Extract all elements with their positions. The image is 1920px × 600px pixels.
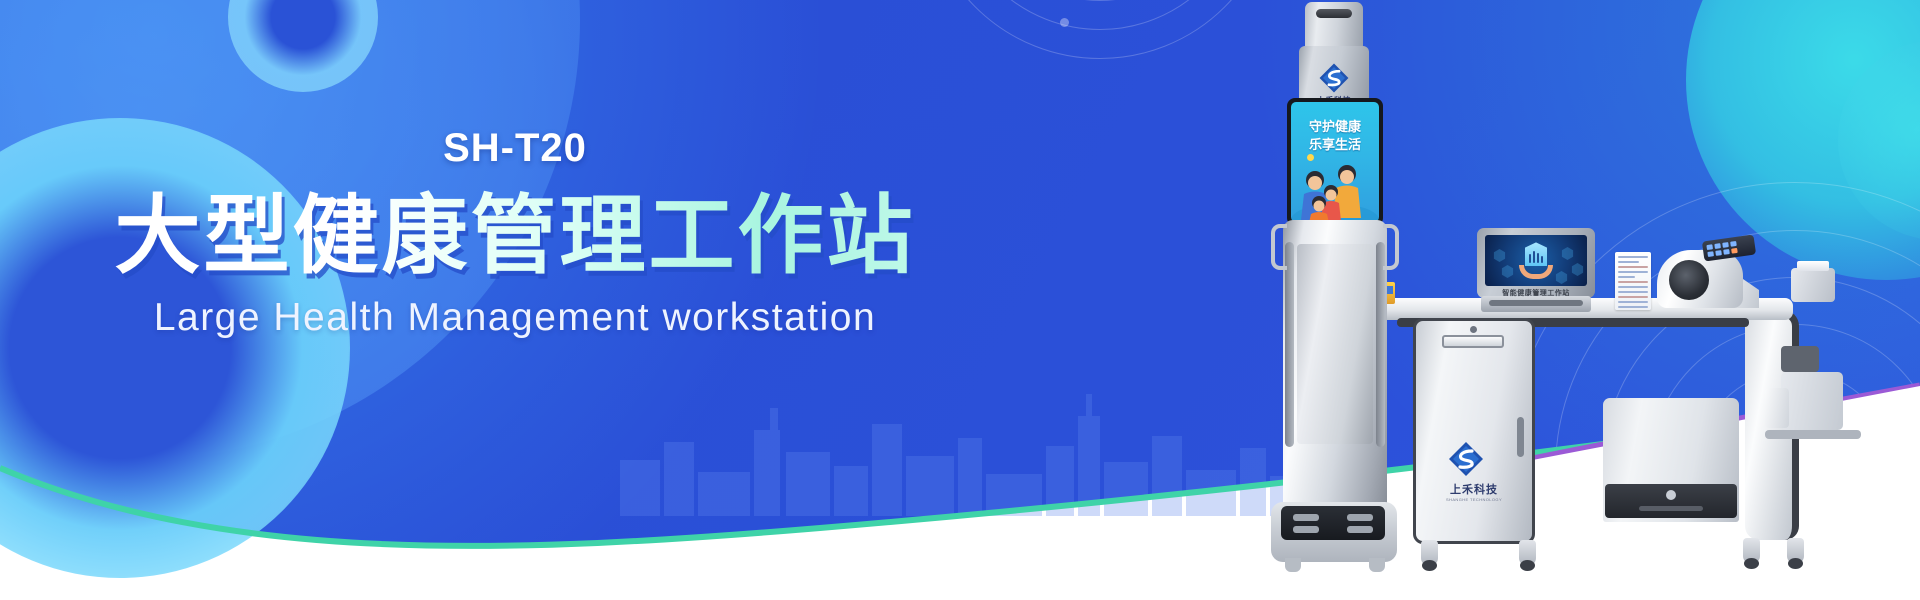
cabinet-brand-logo: 上禾科技 SHANGHE TECHNOLOGY	[1446, 439, 1502, 502]
foot-pad-right-rear	[1347, 526, 1373, 533]
bp-arm-cuff-opening	[1669, 260, 1709, 300]
laptop-keyboard	[1481, 296, 1591, 312]
kiosk-weight-scale[interactable]	[1281, 506, 1385, 540]
kiosk-display[interactable]: 守护健康 乐享生活	[1287, 98, 1383, 226]
blood-pressure-monitor	[1653, 238, 1757, 310]
tray-bar	[1765, 430, 1861, 439]
kiosk-slogan-line2: 乐享生活	[1291, 134, 1379, 153]
laptop-screen	[1485, 235, 1587, 286]
kiosk-handle-right[interactable]	[1383, 224, 1399, 270]
tray-block	[1781, 346, 1819, 372]
kiosk-column	[1283, 220, 1387, 512]
cabinet-card-slot	[1442, 335, 1504, 348]
banner-text-block: SH-T20 大型健康管理工作站 Large Health Management…	[0, 128, 1030, 340]
cabinet-vent	[1517, 417, 1524, 457]
kiosk-foot-left	[1285, 558, 1301, 572]
desk-laptop: 智能健康管理工作站	[1477, 228, 1595, 306]
kiosk-rail-right	[1376, 242, 1385, 447]
cabinet-indicator-icon	[1470, 326, 1477, 333]
tray-cup	[1765, 388, 1789, 428]
printer-drawer	[1605, 484, 1737, 518]
info-leaflet	[1615, 252, 1651, 310]
model-code: SH-T20	[0, 128, 1030, 168]
page-subtitle: Large Health Management workstation	[0, 297, 1030, 340]
printer-handle	[1639, 506, 1703, 511]
shanghe-logo-icon	[1317, 61, 1351, 95]
castor-wheel	[1421, 540, 1438, 566]
health-kiosk-tower: 上禾科技 SHANGHE TECH 守护健康 乐享生活	[1275, 2, 1395, 598]
kiosk-slogan-line1: 守护健康	[1291, 116, 1379, 135]
product-image: 上禾科技 SHANGHE TECHNOLOGY	[1245, 0, 1920, 600]
kiosk-camera-icon	[1316, 9, 1352, 18]
bp-control-panel	[1702, 234, 1756, 261]
desk-printer	[1603, 398, 1739, 522]
shanghe-logo-icon	[1446, 439, 1486, 479]
desk-cabinet: 上禾科技 SHANGHE TECHNOLOGY	[1413, 318, 1535, 544]
receipt-printer	[1791, 268, 1835, 302]
kiosk-rail-left	[1285, 242, 1294, 447]
castor-wheel	[1787, 538, 1804, 564]
foot-pad-left	[1293, 514, 1319, 521]
castor-wheel	[1743, 538, 1760, 564]
kiosk-panel	[1297, 244, 1373, 444]
product-banner: SH-T20 大型健康管理工作站 Large Health Management…	[0, 0, 1920, 600]
printer-knob-icon	[1666, 490, 1676, 500]
page-title: 大型健康管理工作站	[0, 190, 1030, 283]
castor-wheel	[1519, 540, 1536, 566]
accessory-tray	[1781, 372, 1843, 430]
cabinet-logo-sub: SHANGHE TECHNOLOGY	[1446, 497, 1502, 502]
kiosk-foot-right	[1369, 558, 1385, 572]
kiosk-display-content: 守护健康 乐享生活	[1291, 102, 1379, 222]
foot-pad-right	[1347, 514, 1373, 521]
cabinet-logo-name: 上禾科技	[1446, 481, 1502, 497]
laptop-label: 智能健康管理工作站	[1477, 288, 1595, 298]
family-illustration-icon	[1291, 158, 1379, 222]
foot-pad-left-rear	[1293, 526, 1319, 533]
kiosk-handle-left[interactable]	[1271, 224, 1287, 270]
